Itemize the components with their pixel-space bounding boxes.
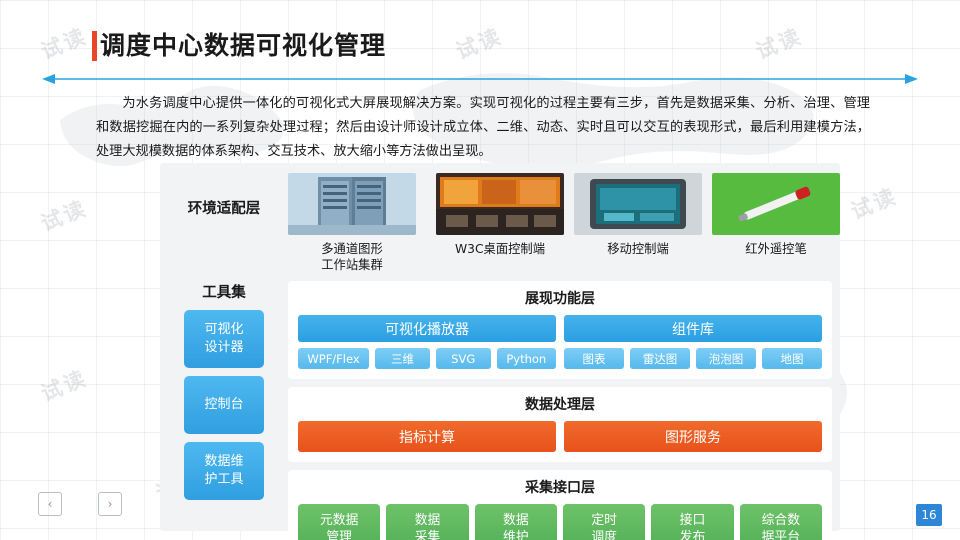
env-item-mobile-control: 移动控制端 (574, 173, 702, 257)
box-data-collection[interactable]: 数据 采集 (386, 504, 468, 540)
pill-group-left: WPF/Flex 三维 SVG Python (298, 348, 556, 369)
box-metadata-management[interactable]: 元数据 管理 (298, 504, 380, 540)
env-item-server-rack: 多通道图形 工作站集群 (288, 173, 416, 273)
env-item-caption: 移动控制端 (574, 241, 702, 257)
layer-title: 数据处理层 (298, 394, 822, 414)
pill-radar-chart[interactable]: 雷达图 (630, 348, 690, 369)
box-data-maintenance[interactable]: 数据 维护 (475, 504, 557, 540)
box-integrated-data-platform[interactable]: 综合数 据平台 (740, 504, 822, 540)
pill-python[interactable]: Python (497, 348, 556, 369)
pill-svg[interactable]: SVG (436, 348, 491, 369)
title-text: 调度中心数据可视化管理 (100, 28, 386, 64)
body-paragraph: 为水务调度中心提供一体化的可视化式大屏展现解决方案。实现可视化的过程主要有三步，… (96, 92, 870, 164)
layer-stack: 展现功能层 可视化播放器 组件库 WPF/Flex 三维 SVG Python … (288, 281, 832, 540)
bar-graphics-service[interactable]: 图形服务 (564, 421, 822, 452)
environment-layer-label: 环境适配层 (168, 197, 280, 218)
layer-title: 采集接口层 (298, 477, 822, 497)
pill-map[interactable]: 地图 (762, 348, 822, 369)
env-item-caption: 多通道图形 工作站集群 (288, 241, 416, 273)
pill-bubble-chart[interactable]: 泡泡图 (696, 348, 756, 369)
slide-canvas: 试读 试读 试读 试读 试读 试读 试读 试读 试读 试读 试读 试读 调度中心… (0, 0, 960, 540)
env-item-infrared-pen: 红外遥控笔 (712, 173, 840, 257)
env-item-caption: 红外遥控笔 (712, 241, 840, 257)
pill-group-right: 图表 雷达图 泡泡图 地图 (564, 348, 822, 369)
box-scheduled-dispatch[interactable]: 定时 调度 (563, 504, 645, 540)
bar-component-library[interactable]: 组件库 (564, 315, 822, 342)
box-interface-publishing[interactable]: 接口 发布 (651, 504, 733, 540)
pill-3d[interactable]: 三维 (375, 348, 430, 369)
layer-presentation: 展现功能层 可视化播放器 组件库 WPF/Flex 三维 SVG Python … (288, 281, 832, 379)
env-item-desktop-control: W3C桌面控制端 (436, 173, 564, 257)
pill-wpf-flex[interactable]: WPF/Flex (298, 348, 369, 369)
tool-visual-designer[interactable]: 可视化 设计器 (184, 310, 264, 368)
bar-metric-calculation[interactable]: 指标计算 (298, 421, 556, 452)
layer-data-processing: 数据处理层 指标计算 图形服务 (288, 387, 832, 462)
title-accent-bar (92, 31, 97, 61)
tablet-photo (574, 173, 702, 235)
architecture-diagram-panel: 环境适配层 (160, 163, 840, 531)
control-room-photo (436, 173, 564, 235)
bar-visual-player[interactable]: 可视化播放器 (298, 315, 556, 342)
env-item-caption: W3C桌面控制端 (436, 241, 564, 257)
environment-layer-row: 环境适配层 (160, 163, 840, 273)
infrared-pen-photo (712, 173, 840, 235)
tools-column: 工具集 可视化 设计器 控制台 数据维 护工具 (168, 281, 280, 523)
next-page-button[interactable]: › (98, 492, 122, 516)
tool-data-maintenance[interactable]: 数据维 护工具 (184, 442, 264, 500)
prev-page-button[interactable]: ‹ (38, 492, 62, 516)
divider-double-arrow (42, 73, 918, 85)
tool-console[interactable]: 控制台 (184, 376, 264, 434)
layer-collection-interface: 采集接口层 元数据 管理 数据 采集 (288, 470, 832, 540)
pill-chart[interactable]: 图表 (564, 348, 624, 369)
tools-title: 工具集 (202, 281, 246, 302)
page-title: 调度中心数据可视化管理 (100, 28, 386, 64)
page-number-badge: 16 (916, 504, 942, 526)
layer-title: 展现功能层 (298, 288, 822, 308)
server-rack-photo (288, 173, 416, 235)
